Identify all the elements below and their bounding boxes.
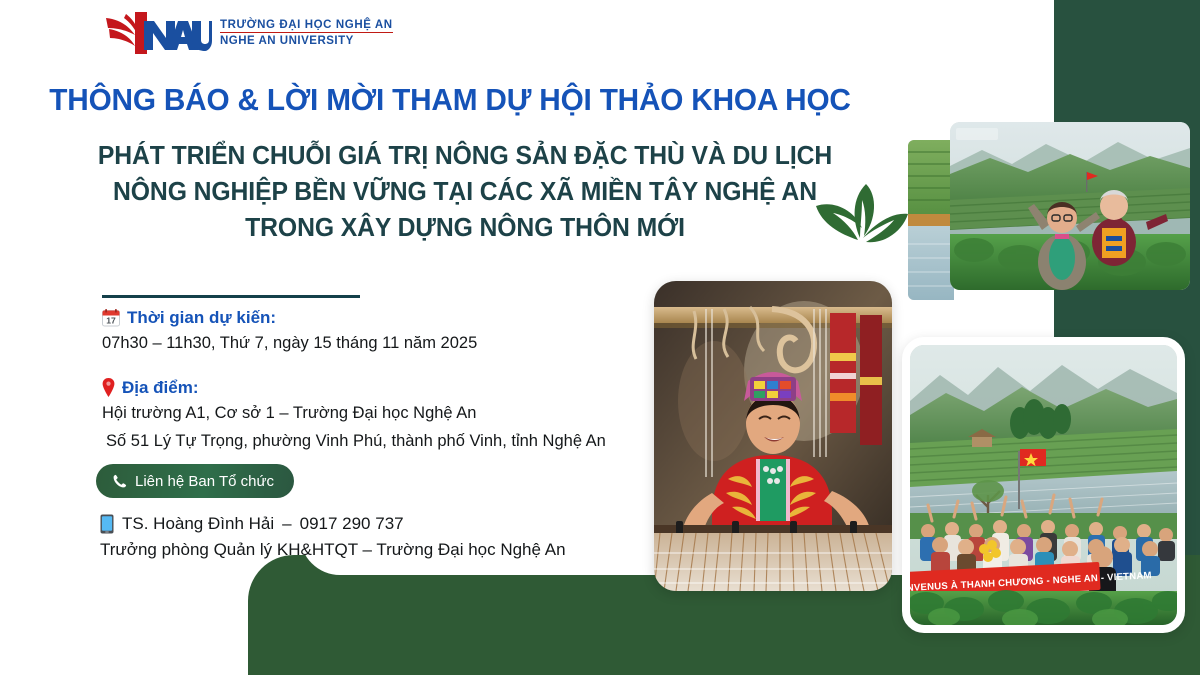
time-row: 17 Thời gian dự kiến: <box>102 308 662 328</box>
contact-person-info: TS. Hoàng Đình Hải – 0917 290 737 Trưởng… <box>100 514 660 560</box>
time-label: Thời gian dự kiến: <box>127 308 276 328</box>
venue-line-2: Số 51 Lý Tự Trọng, phường Vinh Phú, thàn… <box>102 430 662 454</box>
phone-icon <box>113 474 127 488</box>
page-title: THÔNG BÁO & LỜI MỜI THAM DỰ HỘI THẢO KHO… <box>18 82 882 118</box>
venue-row: Địa điểm: <box>102 378 662 398</box>
contact-person-name: TS. Hoàng Đình Hải <box>122 514 274 534</box>
contact-person-phone: 0917 290 737 <box>300 514 404 534</box>
contact-person-separator: – <box>282 514 291 534</box>
page-subtitle: PHÁT TRIỂN CHUỖI GIÁ TRỊ NÔNG SẢN ĐẶC TH… <box>82 138 848 247</box>
calendar-icon: 17 <box>102 309 120 327</box>
logo-line-vi: TRƯỜNG ĐẠI HỌC NGHỆ AN <box>220 19 393 33</box>
logo-line-en: NGHE AN UNIVERSITY <box>220 33 393 47</box>
subtitle-line-3: TRONG XÂY DỰNG NÔNG THÔN MỚI <box>82 210 848 246</box>
subtitle-line-2: NÔNG NGHIỆP BỀN VỮNG TẠI CÁC XÃ MIỀN TÂY… <box>82 174 848 210</box>
calendar-day-number: 17 <box>106 316 116 326</box>
subtitle-line-1: PHÁT TRIỂN CHUỖI GIÁ TRỊ NÔNG SẢN ĐẶC TH… <box>82 138 848 174</box>
contact-organizer-button[interactable]: Liên hệ Ban Tổ chức <box>96 464 294 498</box>
section-divider <box>102 295 360 298</box>
photo-weaver <box>654 281 892 591</box>
university-logo: TRƯỜNG ĐẠI HỌC NGHỆ AN NGHE AN UNIVERSIT… <box>104 12 393 54</box>
photo-group-banner: EZ LES BIENVENUS À THANH CHƯƠNG - NGHE A… <box>902 337 1185 633</box>
contact-organizer-label: Liên hệ Ban Tổ chức <box>135 473 274 490</box>
venue-label: Địa điểm: <box>122 378 199 398</box>
time-value: 07h30 – 11h30, Thứ 7, ngày 15 tháng 11 n… <box>102 332 662 356</box>
event-details: 17 Thời gian dự kiến: 07h30 – 11h30, Thứ… <box>102 308 662 454</box>
contact-person-title: Trưởng phòng Quản lý KH&HTQT – Trường Đạ… <box>100 540 660 560</box>
venue-line-1: Hội trường A1, Cơ sở 1 – Trường Đại học … <box>102 402 662 426</box>
contact-person-row: TS. Hoàng Đình Hải – 0917 290 737 <box>100 514 660 534</box>
nau-logo-icon <box>104 12 212 54</box>
photo-couple-tea-hill <box>950 122 1190 290</box>
mobile-phone-icon <box>100 514 114 534</box>
poster-canvas: TRƯỜNG ĐẠI HỌC NGHỆ AN NGHE AN UNIVERSIT… <box>0 0 1200 675</box>
map-pin-icon <box>102 378 115 397</box>
photo-tea-strip <box>908 140 954 300</box>
